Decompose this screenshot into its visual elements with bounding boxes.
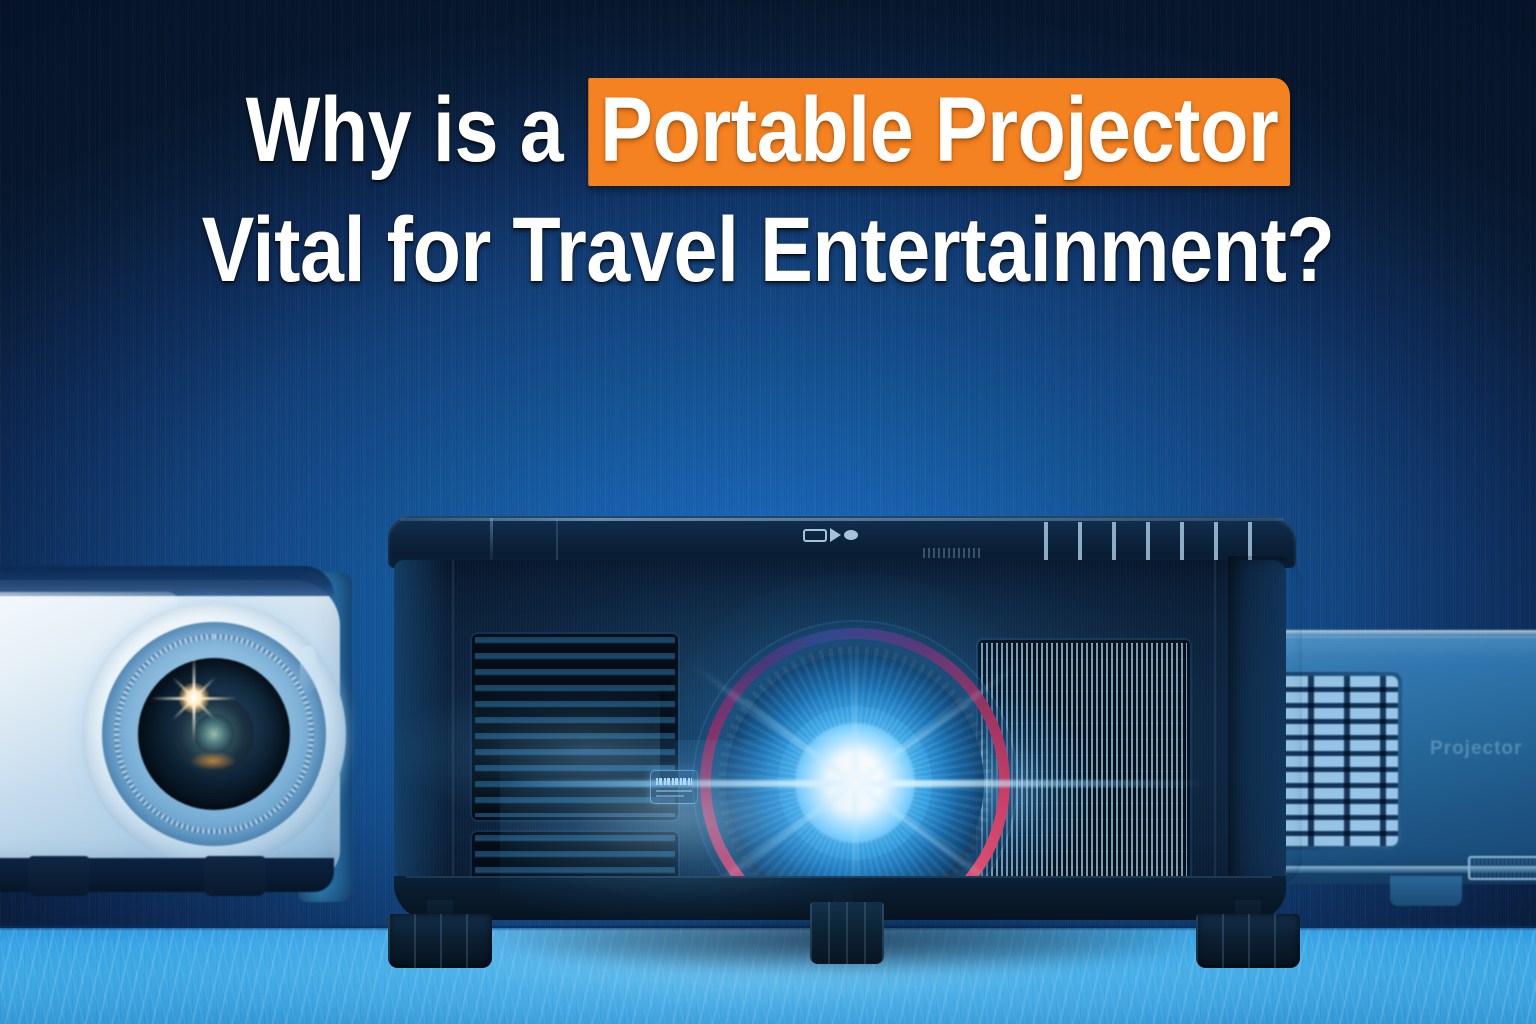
spec-plate-line <box>656 795 684 797</box>
foot-ridges <box>1196 914 1300 968</box>
left-projector <box>0 566 362 940</box>
main-projector-spec-plate <box>650 770 698 804</box>
right-projector-spec-label <box>1468 856 1536 880</box>
lens-light-hotspot <box>827 751 883 815</box>
main-projector-foot-right <box>1196 914 1300 968</box>
logo-ellipse-icon <box>844 530 858 540</box>
main-projector-lid-microtext <box>923 548 983 558</box>
main-projector-lid-highlight <box>400 518 1284 521</box>
main-projector-front-face <box>394 560 1286 896</box>
main-projector-face-seam-right <box>1214 560 1216 896</box>
right-projector-foot <box>1390 876 1462 906</box>
main-projector-face-seam-left <box>452 560 454 896</box>
logo-rectangle-icon <box>803 529 827 542</box>
logo-triangle-icon <box>830 528 841 542</box>
left-projector-foot <box>28 856 90 896</box>
left-projector-lens-amber-reflection <box>190 752 236 770</box>
left-projector-lens-iris <box>194 714 234 754</box>
spec-plate-line <box>656 790 692 792</box>
foot-ridges <box>388 914 492 968</box>
main-projector-foot-left <box>388 914 492 968</box>
louver-slats <box>475 637 675 817</box>
spec-plate-text <box>656 778 692 785</box>
main-projector-right-side-panel <box>1228 556 1302 886</box>
left-projector-foot <box>204 856 266 896</box>
banner-stage: Projector <box>0 0 1536 1024</box>
foot-ridges <box>810 902 884 964</box>
main-projector-base-highlight <box>406 876 1272 878</box>
left-projector-side-notch <box>300 646 316 692</box>
projector-brand-logo-icon <box>803 526 871 544</box>
main-projector-face-left-edge <box>394 560 448 896</box>
main-projector <box>378 504 1310 974</box>
right-projector-brand-text: Projector <box>1430 738 1536 760</box>
main-projector-louver-vent-upper <box>472 634 678 820</box>
main-projector-lens-assembly <box>694 622 1016 896</box>
main-projector-foot-center <box>810 902 884 964</box>
